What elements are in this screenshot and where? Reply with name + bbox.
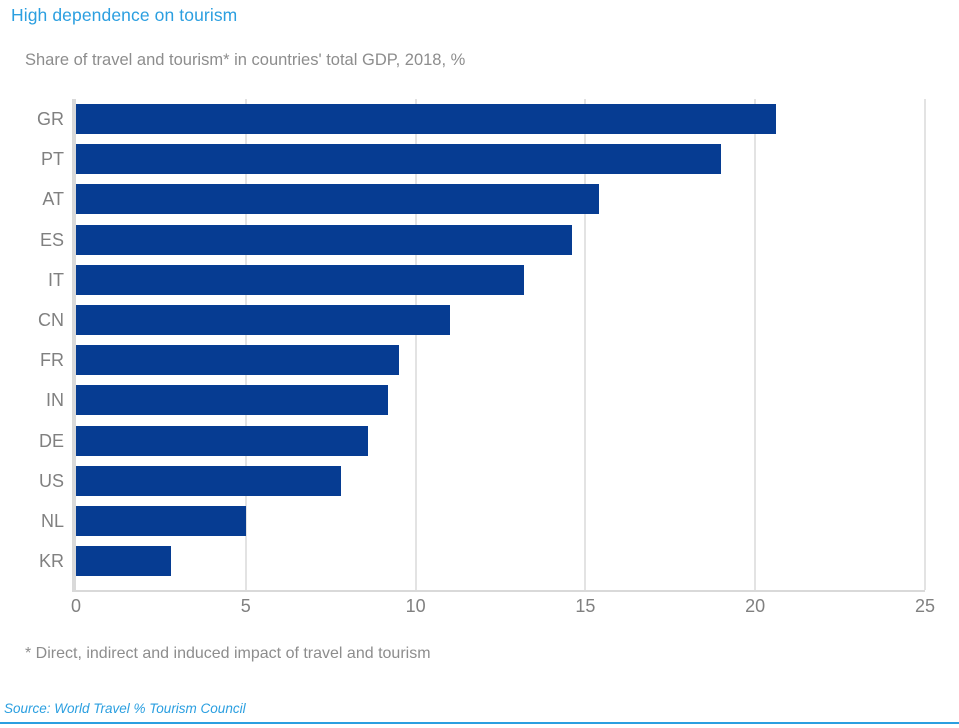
bar-kr[interactable] [76,546,171,576]
x-axis-tick-20: 20 [745,597,765,615]
x-axis-tick-0: 0 [71,597,81,615]
x-axis-tick-25: 25 [915,597,935,615]
y-axis-label-at: AT [0,190,64,208]
y-axis-label-de: DE [0,432,64,450]
bar-cn[interactable] [76,305,450,335]
y-axis-label-it: IT [0,271,64,289]
bar-es[interactable] [76,225,572,255]
chart-title: High dependence on tourism [11,5,237,26]
bar-gr[interactable] [76,104,776,134]
y-axis-label-gr: GR [0,110,64,128]
x-axis-tick-10: 10 [406,597,426,615]
gridline [924,99,926,590]
bar-at[interactable] [76,184,599,214]
y-axis-label-kr: KR [0,552,64,570]
y-axis-label-us: US [0,472,64,490]
chart-source: Source: World Travel % Tourism Council [4,701,246,716]
x-axis-line [72,590,925,592]
chart-subtitle: Share of travel and tourism* in countrie… [25,51,465,70]
bar-pt[interactable] [76,144,721,174]
x-axis-tick-labels: 0510152025 [0,597,959,623]
bar-de[interactable] [76,426,368,456]
y-axis-label-nl: NL [0,512,64,530]
y-axis-label-fr: FR [0,351,64,369]
x-axis-tick-5: 5 [241,597,251,615]
bar-fr[interactable] [76,345,399,375]
y-axis-label-in: IN [0,391,64,409]
bar-it[interactable] [76,265,524,295]
y-axis-label-es: ES [0,231,64,249]
gridline [754,99,756,590]
x-axis-tick-15: 15 [575,597,595,615]
bar-in[interactable] [76,385,388,415]
chart-footnote: * Direct, indirect and induced impact of… [25,645,431,663]
y-axis-label-cn: CN [0,311,64,329]
bar-us[interactable] [76,466,341,496]
y-axis-label-pt: PT [0,150,64,168]
y-axis-category-labels: GRPTATESITCNFRINDEUSNLKR [0,99,64,590]
bar-nl[interactable] [76,506,246,536]
plot-area [76,99,925,590]
chart-card: High dependence on tourism Share of trav… [0,0,959,728]
source-divider [0,722,959,724]
